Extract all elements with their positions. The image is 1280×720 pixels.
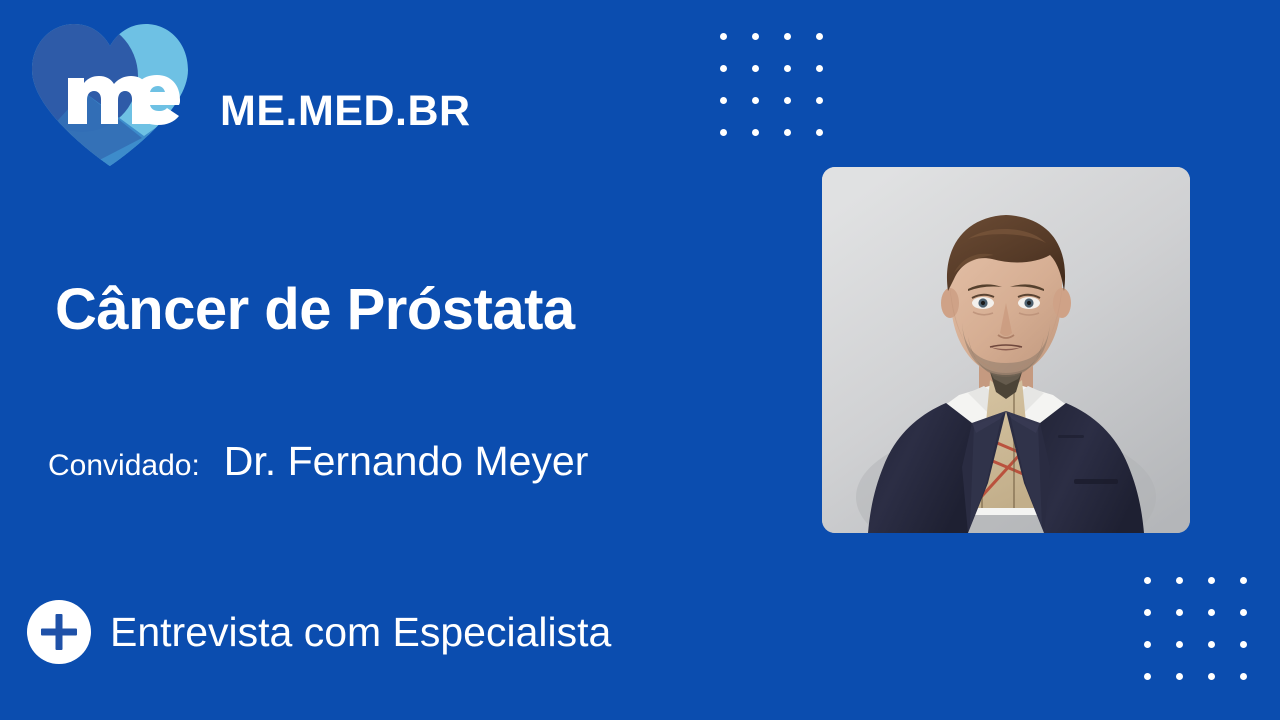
dot bbox=[1176, 641, 1183, 648]
brand-logo-block[interactable]: ME.MED.BR bbox=[24, 18, 544, 168]
dot bbox=[816, 129, 823, 136]
dot bbox=[752, 129, 759, 136]
dot bbox=[1208, 641, 1215, 648]
dot bbox=[816, 65, 823, 72]
dot bbox=[752, 33, 759, 40]
dot bbox=[752, 97, 759, 104]
dot bbox=[752, 65, 759, 72]
guest-name: Dr. Fernando Meyer bbox=[224, 441, 589, 482]
footer-row: Entrevista com Especialista bbox=[27, 600, 611, 664]
brand-name-text: ME.MED.BR bbox=[220, 90, 471, 133]
dot bbox=[1240, 641, 1247, 648]
dot bbox=[784, 33, 791, 40]
dot-grid-icon-top bbox=[720, 33, 848, 161]
dot bbox=[816, 33, 823, 40]
footer-label: Entrevista com Especialista bbox=[110, 612, 611, 653]
dot bbox=[1208, 673, 1215, 680]
dot bbox=[720, 65, 727, 72]
dot bbox=[1240, 577, 1247, 584]
dot-grid-icon-bottom bbox=[1144, 577, 1272, 705]
guest-label: Convidado: bbox=[48, 451, 200, 481]
guest-row: Convidado: Dr. Fernando Meyer bbox=[48, 441, 588, 482]
dot bbox=[784, 97, 791, 104]
dot bbox=[1144, 673, 1151, 680]
dot bbox=[1208, 609, 1215, 616]
dot bbox=[1144, 577, 1151, 584]
plus-circle-icon bbox=[27, 600, 91, 664]
dot bbox=[720, 129, 727, 136]
video-thumbnail-slide: ME.MED.BR C bbox=[0, 0, 1280, 720]
dot bbox=[784, 129, 791, 136]
dot bbox=[1240, 609, 1247, 616]
dot bbox=[720, 97, 727, 104]
dot bbox=[1176, 609, 1183, 616]
dot bbox=[1208, 577, 1215, 584]
guest-portrait-photo bbox=[822, 167, 1190, 533]
dot bbox=[1176, 577, 1183, 584]
dot bbox=[1240, 673, 1247, 680]
page-title: Câncer de Próstata bbox=[55, 281, 575, 339]
dot bbox=[1176, 673, 1183, 680]
me-heart-logo-icon bbox=[24, 18, 196, 168]
dot bbox=[720, 33, 727, 40]
dot bbox=[1144, 609, 1151, 616]
dot bbox=[816, 97, 823, 104]
dot bbox=[1144, 641, 1151, 648]
dot bbox=[784, 65, 791, 72]
